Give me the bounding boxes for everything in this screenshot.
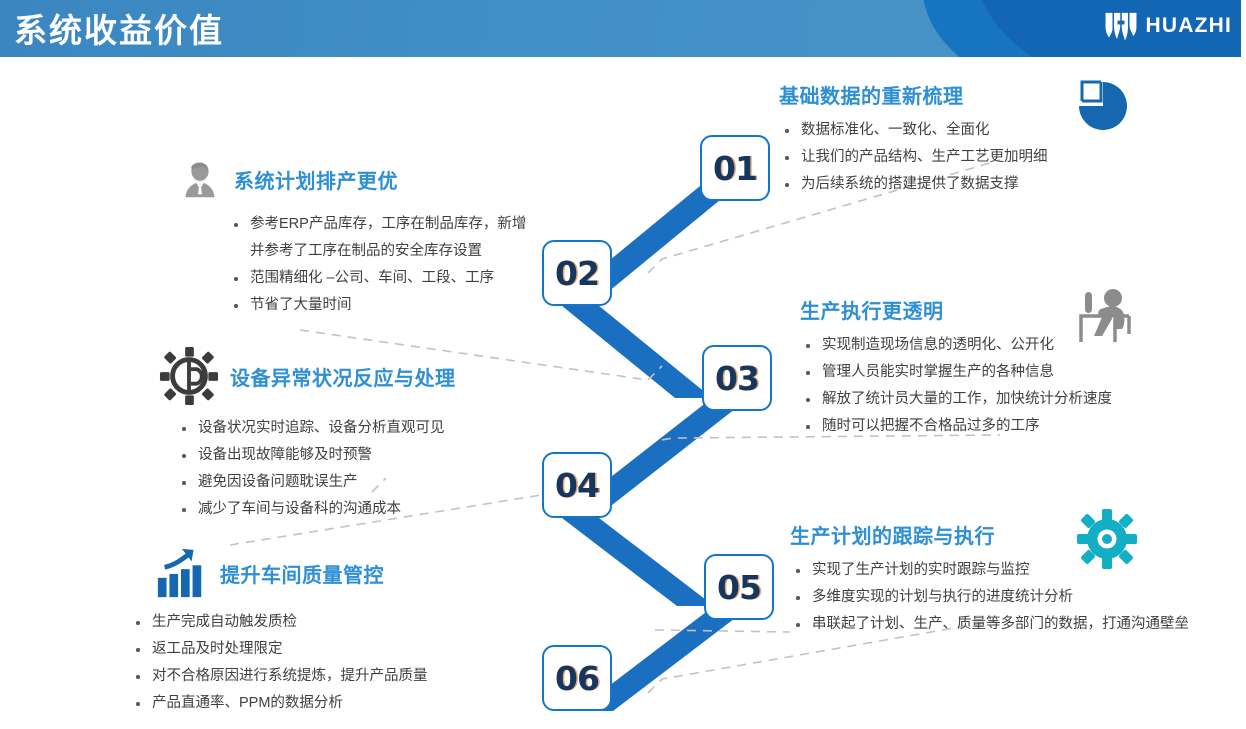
list-item: 生产完成自动触发质检 <box>130 609 530 636</box>
step-title-06: 提升车间质量管控 <box>220 559 384 588</box>
list-item: 多维度实现的计划与执行的进度统计分析 <box>790 584 1200 611</box>
list-item: 串联起了计划、生产、质量等多部门的数据，打通沟通壁垒 <box>790 611 1200 638</box>
step-header-01: 基础数据的重新梳理 <box>779 80 1209 109</box>
step-title-02: 系统计划排产更优 <box>234 165 398 194</box>
list-item: 管理人员能实时掌握生产的各种信息 <box>800 359 1220 386</box>
list-item: 产品直通率、PPM的数据分析 <box>130 690 530 717</box>
step-bullets-04: 设备状况实时追踪、设备分析直观可见 设备出现故障能够及时预警 避免因设备问题耽误… <box>176 415 550 523</box>
list-item: 减少了车间与设备科的沟通成本 <box>176 496 550 523</box>
step-badge-04[interactable]: 04 <box>542 452 612 518</box>
step-number-01: 01 <box>713 149 757 188</box>
gear-outline-icon <box>158 345 220 407</box>
step-bullets-01: 数据标准化、一致化、全面化 让我们的产品结构、生产工艺更加明细 为后续系统的搭建… <box>779 117 1209 198</box>
huazhi-shield-logo-icon <box>1104 11 1138 41</box>
step-bullets-02: 参考ERP产品库存，工序在制品库存，新增并参考了工序在制品的安全库存设置 范围精… <box>228 211 536 319</box>
list-item: 参考ERP产品库存，工序在制品库存，新增并参考了工序在制品的安全库存设置 <box>228 211 536 265</box>
list-item: 对不合格原因进行系统提炼，提升产品质量 <box>130 663 530 690</box>
list-item: 返工品及时处理限定 <box>130 636 530 663</box>
step-header-03: 生产执行更透明 <box>800 295 1220 324</box>
step-header-04: 设备异常状况反应与处理 <box>150 345 550 407</box>
list-item: 节省了大量时间 <box>228 292 536 319</box>
list-item: 让我们的产品结构、生产工艺更加明细 <box>779 144 1209 171</box>
step-title-03: 生产执行更透明 <box>800 295 944 324</box>
step-badge-06[interactable]: 06 <box>542 645 612 711</box>
gear-solid-icon <box>1076 508 1138 570</box>
step-block-06: 提升车间质量管控 生产完成自动触发质检 返工品及时处理限定 对不合格原因进行系统… <box>130 545 530 717</box>
person-at-desk-icon <box>1077 286 1143 348</box>
step-title-05: 生产计划的跟踪与执行 <box>790 520 995 549</box>
step-badge-02[interactable]: 02 <box>542 240 612 306</box>
list-item: 避免因设备问题耽误生产 <box>176 469 550 496</box>
list-item: 实现了生产计划的实时跟踪与监控 <box>790 557 1200 584</box>
list-item: 实现制造现场信息的透明化、公开化 <box>800 332 1220 359</box>
step-block-01: 基础数据的重新梳理 数据标准化、一致化、全面化 让我们的产品结构、生产工艺更加明… <box>779 80 1209 198</box>
step-header-02: 系统计划排产更优 <box>176 155 536 203</box>
step-title-04: 设备异常状况反应与处理 <box>230 362 456 391</box>
list-item: 解放了统计员大量的工作，加快统计分析速度 <box>800 386 1220 413</box>
list-item: 设备出现故障能够及时预警 <box>176 442 550 469</box>
step-block-04: 设备异常状况反应与处理 设备状况实时追踪、设备分析直观可见 设备出现故障能够及时… <box>150 345 550 523</box>
step-number-06: 06 <box>555 659 599 698</box>
page-title: 系统收益价值 <box>14 4 224 52</box>
step-header-05: 生产计划的跟踪与执行 <box>790 520 1200 549</box>
list-item: 数据标准化、一致化、全面化 <box>779 117 1209 144</box>
step-badge-01[interactable]: 01 <box>700 135 770 201</box>
list-item: 范围精细化 –公司、车间、工段、工序 <box>228 265 536 292</box>
slide-canvas: 系统收益价值 HUAZHI 01 <box>0 0 1246 729</box>
step-block-02: 系统计划排产更优 参考ERP产品库存，工序在制品库存，新增并参考了工序在制品的安… <box>176 155 536 319</box>
brand-logo: HUAZHI <box>1104 11 1232 41</box>
step-number-03: 03 <box>715 359 759 398</box>
step-block-03: 生产执行更透明 实现制造现场信息的透明化、公开化 管理人员能实时掌握生产的各种信… <box>800 295 1220 440</box>
step-title-01: 基础数据的重新梳理 <box>779 80 964 109</box>
header-right-bar <box>1241 0 1246 57</box>
step-number-02: 02 <box>555 254 599 293</box>
pie-chart-icon <box>1072 72 1134 134</box>
list-item: 为后续系统的搭建提供了数据支撑 <box>779 171 1209 198</box>
step-header-06: 提升车间质量管控 <box>130 545 530 601</box>
step-bullets-06: 生产完成自动触发质检 返工品及时处理限定 对不合格原因进行系统提炼，提升产品质量… <box>130 609 530 717</box>
step-bullets-05: 实现了生产计划的实时跟踪与监控 多维度实现的计划与执行的进度统计分析 串联起了计… <box>790 557 1200 638</box>
step-bullets-03: 实现制造现场信息的透明化、公开化 管理人员能实时掌握生产的各种信息 解放了统计员… <box>800 332 1220 440</box>
bar-chart-growth-icon <box>152 545 210 601</box>
businessman-avatar-icon <box>176 155 224 203</box>
step-number-05: 05 <box>717 568 761 607</box>
step-number-04: 04 <box>555 466 599 505</box>
list-item: 设备状况实时追踪、设备分析直观可见 <box>176 415 550 442</box>
step-badge-03[interactable]: 03 <box>702 345 772 411</box>
list-item: 随时可以把握不合格品过多的工序 <box>800 413 1220 440</box>
step-badge-05[interactable]: 05 <box>704 554 774 620</box>
step-block-05: 生产计划的跟踪与执行 实现了生产计划的实时跟踪与监控 多维度实现的计划与执行的进… <box>790 520 1200 638</box>
brand-name: HUAZHI <box>1145 14 1232 38</box>
